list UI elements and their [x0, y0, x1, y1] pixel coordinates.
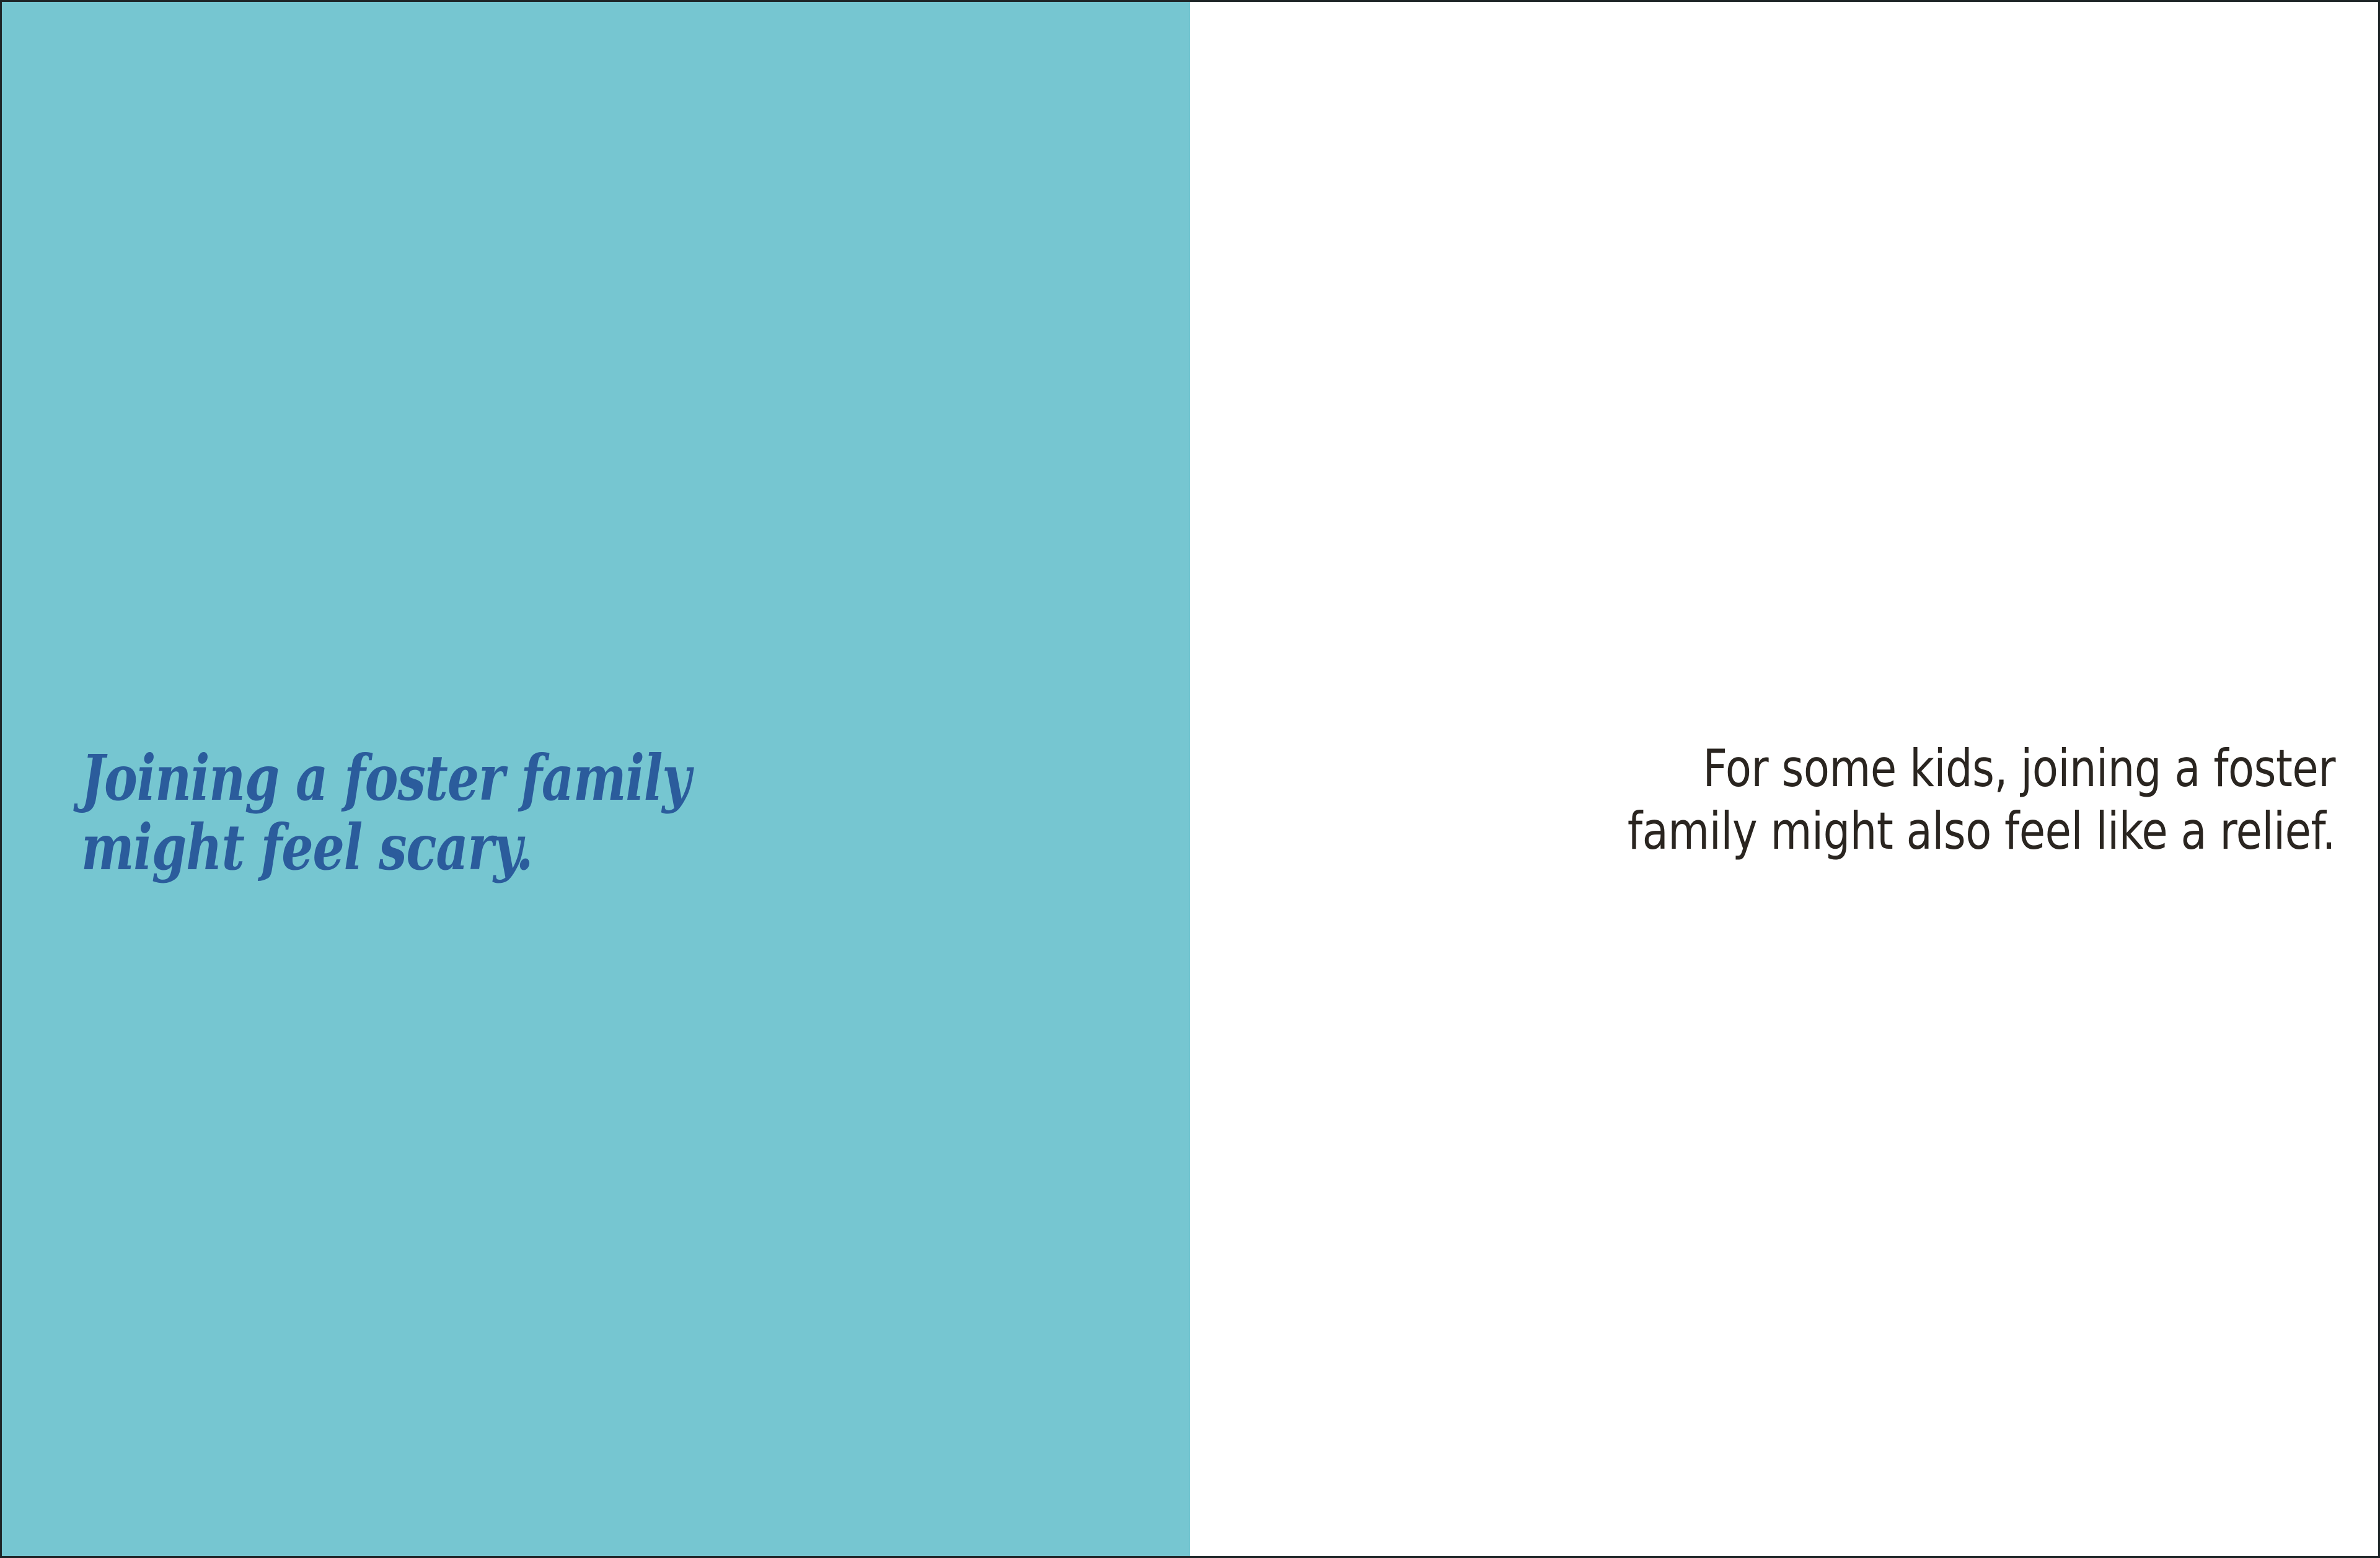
right-white-panel: For some kids, joining a foster family m…	[1190, 2, 2380, 1556]
left-teal-panel: Joining a foster family might feel scary…	[2, 2, 1190, 1556]
page-title: Joining a foster family might feel scary…	[81, 743, 875, 882]
page-spread: Joining a foster family might feel scary…	[0, 0, 2380, 1558]
body-paragraph: For some kids, joining a foster family m…	[1446, 737, 2335, 863]
